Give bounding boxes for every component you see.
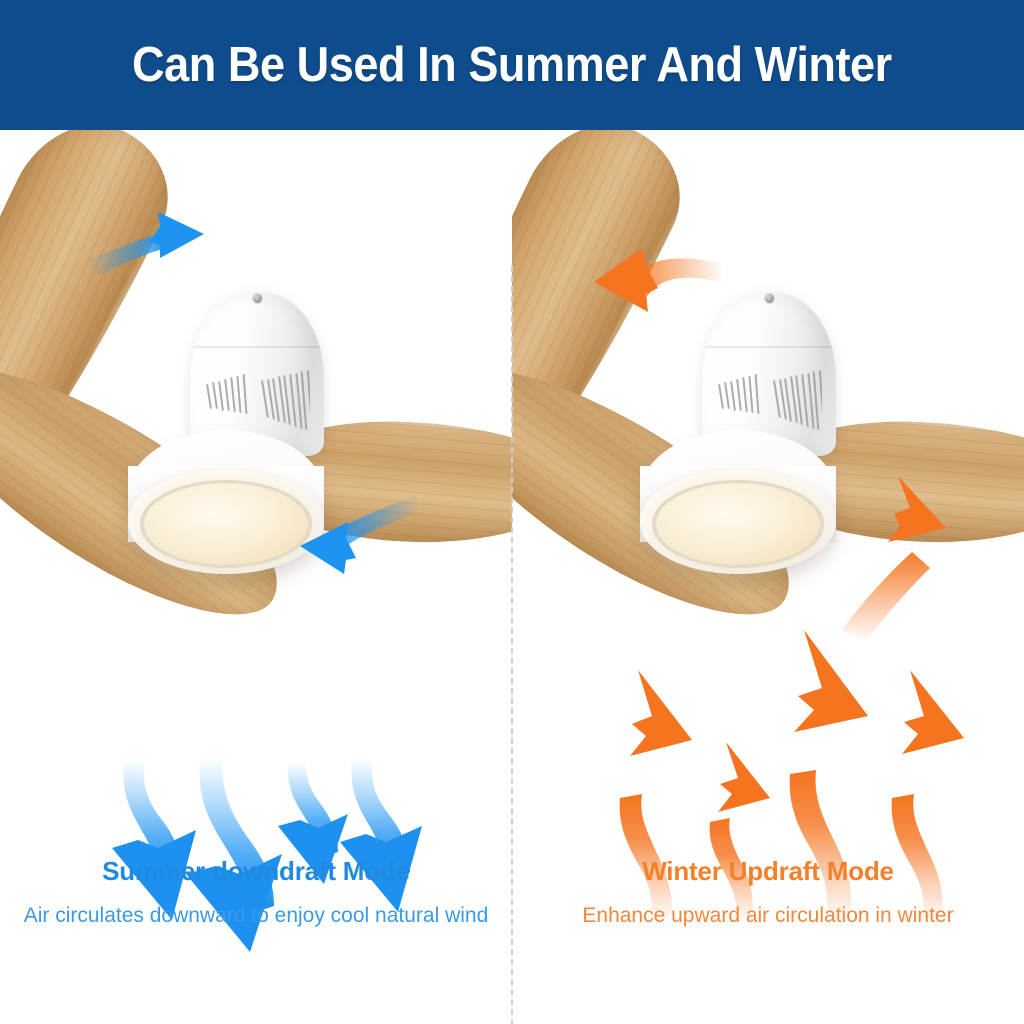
- ceiling-fan-image-winter: [512, 130, 1024, 630]
- summer-mode-subtitle: Air circulates downward to enjoy cool na…: [0, 901, 512, 931]
- infographic-page: Can Be Used In Summer And Winter: [0, 0, 1024, 1024]
- panel-winter: Winter Updraft Mode Enhance upward air c…: [512, 130, 1024, 1024]
- panel-summer: Summer downdraft Mode Air circulates dow…: [0, 130, 512, 1024]
- header-title: Can Be Used In Summer And Winter: [132, 37, 892, 93]
- panel-divider: [511, 266, 513, 1024]
- caption-summer: Summer downdraft Mode Air circulates dow…: [0, 856, 512, 931]
- ceiling-fan-image-summer: [0, 130, 512, 630]
- panels-container: Summer downdraft Mode Air circulates dow…: [0, 130, 1024, 1024]
- fan-light-kit: [640, 430, 836, 578]
- summer-mode-title: Summer downdraft Mode: [0, 856, 512, 887]
- motor-screw-icon: [765, 294, 774, 303]
- light-diffuser: [144, 483, 308, 565]
- winter-mode-subtitle: Enhance upward air circulation in winter: [512, 901, 1024, 931]
- light-diffuser: [656, 483, 820, 565]
- motor-screw-icon: [253, 294, 262, 303]
- winter-mode-title: Winter Updraft Mode: [512, 856, 1024, 887]
- caption-winter: Winter Updraft Mode Enhance upward air c…: [512, 856, 1024, 931]
- header-banner: Can Be Used In Summer And Winter: [0, 0, 1024, 130]
- fan-light-kit: [128, 430, 324, 578]
